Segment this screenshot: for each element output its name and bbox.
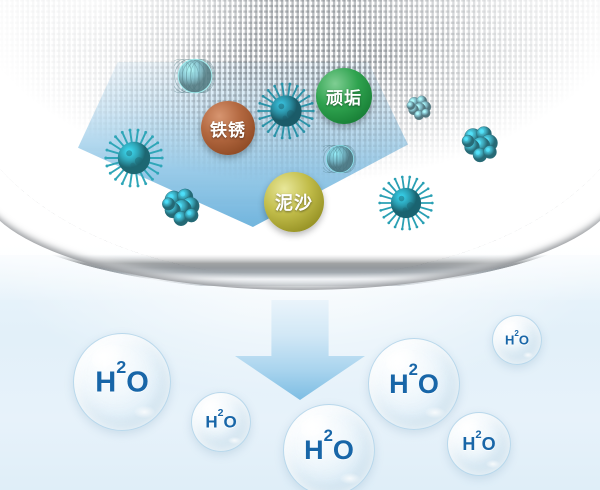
contaminant-label-scale: 顽垢 (316, 68, 372, 124)
bubble-left-large-label: H2O (95, 366, 149, 398)
bubble-mid-small-label: H2O (205, 413, 236, 431)
bubble-top-right-label: H2O (505, 333, 529, 346)
bubble-center-large-label: H2O (304, 436, 354, 464)
germ-cluster-small (402, 90, 436, 124)
bubble-center-large: H2O (283, 404, 375, 490)
contaminant-label-rust-text: 铁锈 (210, 116, 246, 141)
germ-spiky-left (104, 128, 164, 188)
bubble-top-right: H2O (492, 315, 542, 365)
contaminant-label-silt-text: 泥沙 (275, 189, 313, 215)
germ-cluster-right (455, 118, 505, 168)
bubble-mid-small: H2O (191, 392, 251, 452)
germ-spiky-top (257, 82, 315, 140)
contaminant-label-scale-text: 顽垢 (326, 84, 362, 109)
bubble-far-right: H2O (447, 412, 511, 476)
bubble-right-large: H2O (368, 338, 460, 430)
germ-ribbed-mid (323, 142, 357, 176)
bubble-right-large-label: H2O (389, 370, 439, 398)
bubble-far-right-label: H2O (462, 435, 495, 453)
germ-ribbed-top (174, 55, 216, 97)
contaminant-label-silt: 泥沙 (264, 172, 324, 232)
germ-spiky-right (378, 175, 434, 231)
germ-cluster-left (155, 180, 207, 232)
bubble-left-large: H2O (73, 333, 171, 431)
illustration-canvas: 铁锈 顽垢 泥沙 H2OH2OH2OH2OH2OH2O (0, 0, 600, 490)
contaminant-label-rust: 铁锈 (201, 101, 255, 155)
